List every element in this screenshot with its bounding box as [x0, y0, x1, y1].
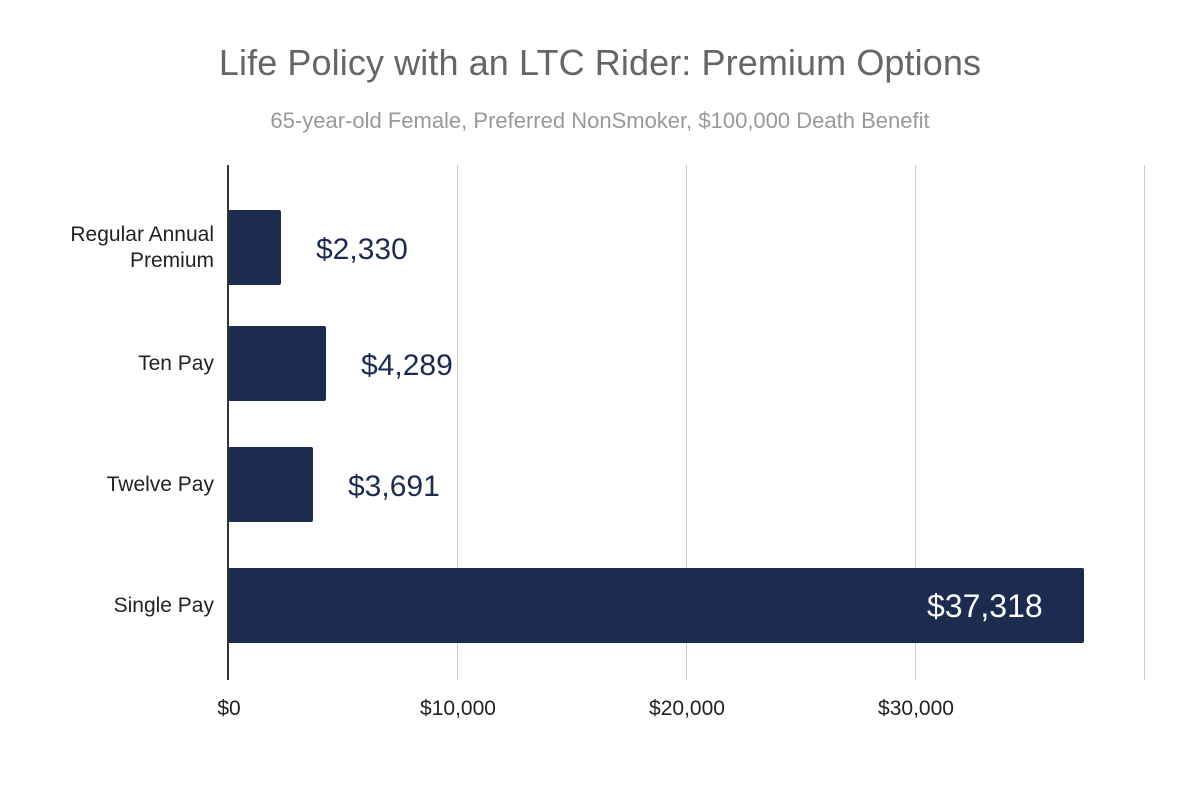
category-label-ten-pay: Ten Pay	[4, 351, 214, 377]
bar-twelve-pay[interactable]	[228, 447, 313, 522]
chart-subtitle: 65-year-old Female, Preferred NonSmoker,…	[0, 108, 1200, 134]
bar-regular-annual-premium[interactable]	[228, 210, 281, 285]
category-label-regular-annual-premium: Regular Annual Premium	[4, 222, 214, 273]
bar-label-ten-pay: $4,289	[361, 351, 453, 381]
xtick-label-20000: $20,000	[649, 697, 725, 721]
bar-ten-pay[interactable]	[228, 326, 326, 401]
y-axis-line	[227, 165, 229, 680]
chart-container: Life Policy with an LTC Rider: Premium O…	[0, 0, 1200, 791]
category-label-line-2: Premium	[4, 248, 214, 274]
category-label-twelve-pay: Twelve Pay	[4, 472, 214, 498]
category-label-single-pay: Single Pay	[4, 593, 214, 619]
bar-label-twelve-pay: $3,691	[348, 472, 440, 502]
bar-label-regular-annual-premium: $2,330	[316, 235, 408, 265]
gridline-40000	[1144, 165, 1145, 680]
bar-label-single-pay: $37,318	[927, 590, 1043, 622]
xtick-label-0: $0	[217, 697, 240, 721]
y-axis-labels: Regular Annual Premium Ten Pay Twelve Pa…	[0, 165, 214, 680]
plot-area: $2,330 $4,289 $3,691 $37,318	[228, 165, 1146, 680]
category-label-line-1: Regular Annual	[4, 222, 214, 248]
xtick-label-30000: $30,000	[878, 697, 954, 721]
xtick-label-10000: $10,000	[420, 697, 496, 721]
chart-title: Life Policy with an LTC Rider: Premium O…	[0, 42, 1200, 84]
